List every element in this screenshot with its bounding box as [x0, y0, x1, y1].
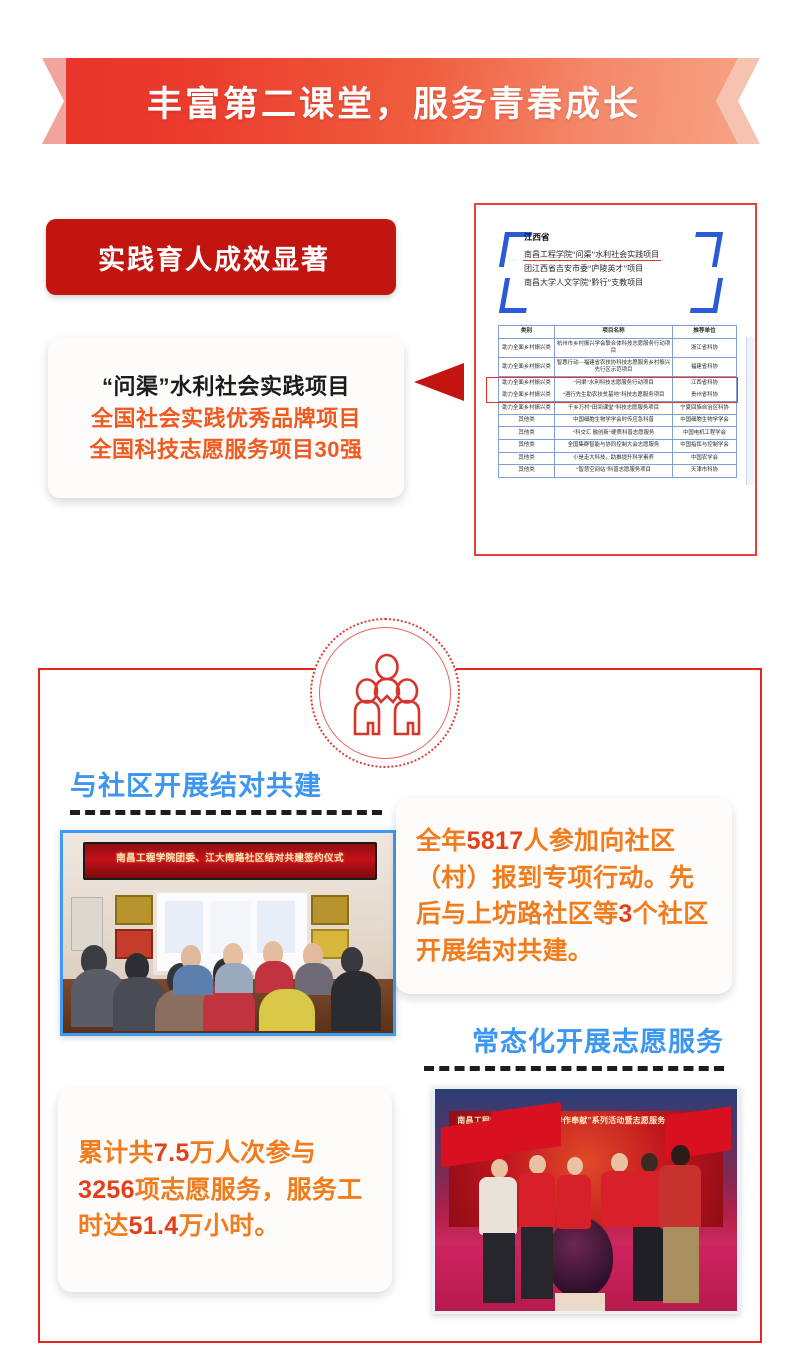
award-line-3: 全国科技志愿服务项目30强 — [90, 434, 363, 465]
document-text-block: 江西省 南昌工程学院“问渠”水利社会实践项目 团江西省吉安市委“庐陵英才”项目 … — [524, 230, 706, 290]
table-body: 助力全面乡村振兴类杭州市乡村振兴学会联合体科技志愿服务行动项目浙江省科协助力全面… — [499, 338, 737, 477]
stat-card-volunteer: 累计共7.5万人次参与3256项志愿服务，服务工时达51.4万小时。 — [58, 1088, 392, 1292]
section-heading-volunteer: 常态化开展志愿服务 — [424, 1020, 724, 1071]
stat-number: 7.5 — [154, 1139, 190, 1167]
table-cell: 贵州省科协 — [673, 389, 737, 402]
air-conditioner — [71, 897, 103, 951]
doc-line-3: 南昌大学人文学院“黔行”支教项目 — [524, 276, 706, 290]
ribbon-body: 丰富第二课堂，服务青春成长 — [66, 58, 738, 144]
table-cell: 助力全面乡村振兴类 — [499, 358, 555, 377]
scrollbar[interactable] — [746, 337, 754, 485]
table-row: 助力全面乡村振兴类“问渠”水利科技志愿服务行动项目江西省科协 — [499, 377, 737, 390]
table-cell: 江西省科协 — [673, 377, 737, 390]
heading-text: 常态化开展志愿服务 — [424, 1020, 724, 1059]
stat-label: 累计共 — [78, 1139, 154, 1167]
people-group-icon-badge — [310, 618, 460, 768]
led-banner-text: 南昌工程学院团委、江大南路社区结对共建签约仪式 — [85, 844, 375, 874]
award-card: “问渠”水利社会实践项目 全国社会实践优秀品牌项目 全国科技志愿服务项目30强 — [48, 338, 404, 498]
stat-number: 5817 — [467, 827, 524, 855]
table-cell: 中国农学会 — [673, 452, 737, 465]
province-label: 江西省 — [524, 230, 706, 244]
table-col-header: 项目名称 — [555, 326, 673, 339]
table-cell: 助力全面乡村振兴类 — [499, 338, 555, 357]
stat-label: 万人次参与 — [190, 1139, 317, 1167]
table-cell: 其他类 — [499, 414, 555, 427]
table-cell: 千乡万村“田间课堂”科技志愿服务项目 — [555, 402, 673, 415]
table-cell: 全国集群智能与协同控制大会志愿服务 — [555, 439, 673, 452]
document-screenshot-panel: 江西省 南昌工程学院“问渠”水利社会实践项目 团江西省吉安市委“庐陵英才”项目 … — [474, 203, 757, 556]
table-cell: 其他类 — [499, 427, 555, 440]
section-heading-community: 与社区开展结对共建 — [70, 764, 382, 815]
table-row: 其他类全国集群智能与协同控制大会志愿服务中国指挥与控制学会 — [499, 439, 737, 452]
bracket-decoration: 江西省 南昌工程学院“问渠”水利社会实践项目 团江西省吉安市委“庐陵英才”项目 … — [502, 232, 720, 314]
table-cell: 助力全面乡村振兴类 — [499, 389, 555, 402]
photo-volunteer-ceremony: 南昌工程学院“红色信仰•青春作奉献”系列活动暨志愿服务行动启动仪式 — [432, 1086, 740, 1314]
table-cell: “问渠”水利科技志愿服务行动项目 — [555, 377, 673, 390]
table-row: 其他类中国细胞生物学学会时传应急科普中国细胞生物学学会 — [499, 414, 737, 427]
table-cell: 福建省科协 — [673, 358, 737, 377]
heading-text: 与社区开展结对共建 — [70, 764, 382, 803]
people-group-icon — [342, 650, 432, 740]
table-row: 助力全面乡村振兴类智惠行动—福建省农技协科技志愿服务乡村振兴先行区示范项目福建省… — [499, 358, 737, 377]
stat-label: 万小时。 — [178, 1212, 279, 1240]
table-row: 其他类“智慧空间站”科普志愿服务项目天津市科协 — [499, 465, 737, 478]
table-row: 助力全面乡村振兴类千乡万村“田间课堂”科技志愿服务项目宁夏回族自治区科协 — [499, 402, 737, 415]
table-row: 助力全面乡村振兴类杭州市乡村振兴学会联合体科技志愿服务行动项目浙江省科协 — [499, 338, 737, 357]
table-cell: “科交汇 融创新”硬质科普志愿服务 — [555, 427, 673, 440]
stat-number: 3 — [618, 900, 632, 928]
wall-plaque — [115, 895, 153, 925]
person — [259, 989, 315, 1031]
table-cell: 中国细胞生物学学会时传应急科普 — [555, 414, 673, 427]
table-cell: 其他类 — [499, 465, 555, 478]
table-row: 其他类小是走大科技，助推提升科学素养中国农学会 — [499, 452, 737, 465]
table-header-row: 类别 项目名称 推荐单位 — [499, 326, 737, 339]
doc-line-1: 南昌工程学院“问渠”水利社会实践项目 — [524, 248, 659, 262]
page-title: 丰富第二课堂，服务青春成长 — [147, 76, 641, 127]
led-banner: 南昌工程学院团委、江大南路社区结对共建签约仪式 — [83, 842, 377, 880]
table-row: 其他类“科交汇 融创新”硬质科普志愿服务中国电机工程学会 — [499, 427, 737, 440]
table-cell: 助力全面乡村振兴类 — [499, 402, 555, 415]
wall-plaque — [311, 895, 349, 925]
table-cell: 宁夏回族自治区科协 — [673, 402, 737, 415]
pointer-triangle-icon — [414, 363, 464, 401]
doc-line-2: 团江西省吉安市委“庐陵英才”项目 — [524, 262, 706, 276]
person — [173, 965, 213, 995]
header-ribbon: 丰富第二课堂，服务青春成长 — [0, 58, 800, 144]
dashed-divider — [70, 810, 382, 815]
stat-number: 3256 — [78, 1176, 135, 1204]
table-cell: 浙江省科协 — [673, 338, 737, 357]
table-cell: 天津市科协 — [673, 465, 737, 478]
table-row: 助力全面乡村振兴类“酒行先生助农扶贫基地”科技志愿服务项目贵州省科协 — [499, 389, 737, 402]
table-cell: 其他类 — [499, 439, 555, 452]
table-cell: 其他类 — [499, 452, 555, 465]
table-cell: 智惠行动—福建省农技协科技志愿服务乡村振兴先行区示范项目 — [555, 358, 673, 377]
table-cell: “酒行先生助农扶贫基地”科技志愿服务项目 — [555, 389, 673, 402]
screenshot-content: 江西省 南昌工程学院“问渠”水利社会实践项目 团江西省吉安市委“庐陵英才”项目 … — [476, 205, 755, 554]
table-col-header: 推荐单位 — [673, 326, 737, 339]
award-line-2: 全国社会实践优秀品牌项目 — [91, 403, 361, 434]
table-cell: 中国细胞生物学学会 — [673, 414, 737, 427]
stat-text: 累计共7.5万人次参与3256项志愿服务，服务工时达51.4万小时。 — [58, 1135, 392, 1245]
ball-stand — [555, 1293, 605, 1314]
table-cell: 中国电机工程学会 — [673, 427, 737, 440]
table-cell: “智慧空间站”科普志愿服务项目 — [555, 465, 673, 478]
badge-label: 实践育人成效显著 — [98, 238, 330, 277]
table-cell: 杭州市乡村振兴学会联合体科技志愿服务行动项目 — [555, 338, 673, 357]
stat-text: 全年5817人参加向社区（村）报到专项行动。先后与上坊路社区等3个社区开展结对共… — [396, 823, 732, 969]
award-line-1: “问渠”水利社会实践项目 — [102, 371, 350, 403]
person — [341, 947, 363, 973]
person — [331, 971, 381, 1031]
table-cell: 中国指挥与控制学会 — [673, 439, 737, 452]
stat-number: 51.4 — [129, 1212, 179, 1240]
photo-community-signing: 南昌工程学院团委、江大南路社区结对共建签约仪式 — [60, 830, 396, 1036]
projects-table: 类别 项目名称 推荐单位 助力全面乡村振兴类杭州市乡村振兴学会联合体科技志愿服务… — [498, 325, 737, 478]
dashed-divider — [424, 1066, 724, 1071]
table-cell: 助力全面乡村振兴类 — [499, 377, 555, 390]
table-col-header: 类别 — [499, 326, 555, 339]
launch-ball — [547, 1217, 613, 1297]
person — [215, 963, 253, 993]
stat-label: 全年 — [416, 827, 467, 855]
stat-card-community: 全年5817人参加向社区（村）报到专项行动。先后与上坊路社区等3个社区开展结对共… — [396, 798, 732, 994]
table-cell: 小是走大科技，助推提升科学素养 — [555, 452, 673, 465]
status-badge: 实践育人成效显著 — [46, 219, 396, 295]
